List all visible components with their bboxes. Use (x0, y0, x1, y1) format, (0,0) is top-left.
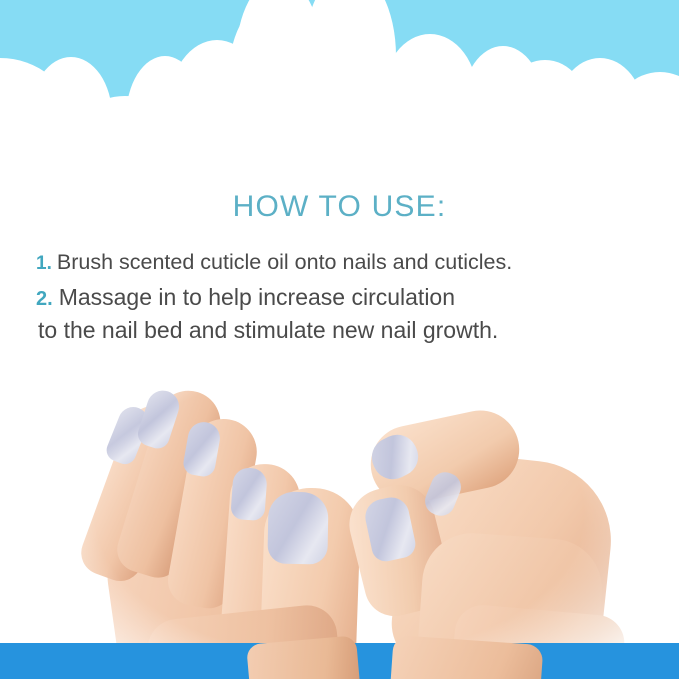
step-text-continuation: to the nail bed and stimulate new nail g… (36, 315, 659, 345)
painted-nail (267, 491, 328, 564)
list-item: 1. Brush scented cuticle oil onto nails … (36, 248, 659, 276)
step-number: 1. (36, 251, 52, 276)
step-number: 2. (36, 286, 53, 312)
step-text: Massage in to help increase circulation (59, 282, 455, 312)
step-text: Brush scented cuticle oil onto nails and… (57, 248, 512, 276)
cloud-icon (0, 0, 679, 152)
instructions-block: HOW TO USE: 1. Brush scented cuticle oil… (0, 152, 679, 345)
sky-banner (0, 0, 679, 152)
steps-list: 1. Brush scented cuticle oil onto nails … (0, 248, 679, 345)
painted-nail (230, 467, 268, 521)
list-item: 2. Massage in to help increase circulati… (36, 282, 659, 312)
hands-applying-cuticle-oil-photo (0, 360, 679, 679)
product-instruction-card: HOW TO USE: 1. Brush scented cuticle oil… (0, 0, 679, 679)
page-title: HOW TO USE: (0, 192, 679, 222)
